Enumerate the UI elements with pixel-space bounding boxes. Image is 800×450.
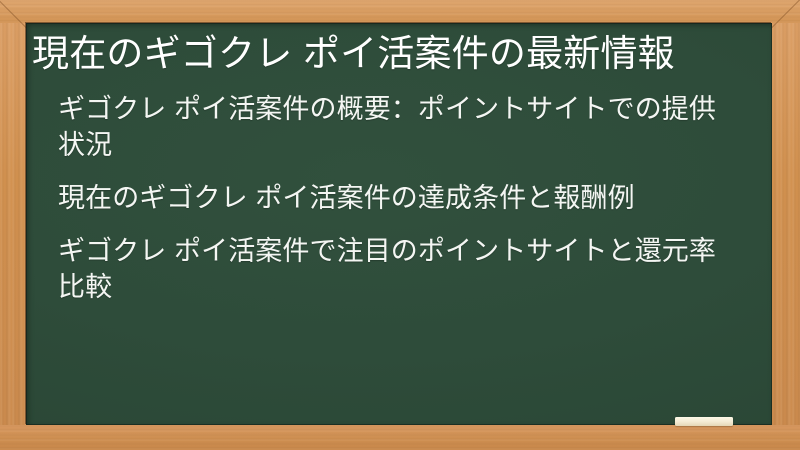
list-item: ギゴクレ ポイ活案件で注目のポイントサイトと還元率比較 — [58, 234, 742, 306]
frame-ledge-bottom — [0, 425, 800, 450]
chalk-stick-icon — [675, 417, 733, 426]
page-title: 現在のギゴクレ ポイ活案件の最新情報 — [26, 23, 772, 78]
outline-list: ギゴクレ ポイ活案件の概要：ポイントサイトでの提供状況 現在のギゴクレ ポイ活案… — [26, 92, 772, 306]
chalkboard-surface: 現在のギゴクレ ポイ活案件の最新情報 ギゴクレ ポイ活案件の概要：ポイントサイト… — [26, 23, 772, 425]
board-content: 現在のギゴクレ ポイ活案件の最新情報 ギゴクレ ポイ活案件の概要：ポイントサイト… — [26, 23, 772, 306]
chalkboard-card: 現在のギゴクレ ポイ活案件の最新情報 ギゴクレ ポイ活案件の概要：ポイントサイト… — [0, 0, 800, 450]
list-item: ギゴクレ ポイ活案件の概要：ポイントサイトでの提供状況 — [58, 92, 742, 164]
frame-rail-top — [0, 0, 800, 23]
list-item: 現在のギゴクレ ポイ活案件の達成条件と報酬例 — [58, 181, 742, 217]
